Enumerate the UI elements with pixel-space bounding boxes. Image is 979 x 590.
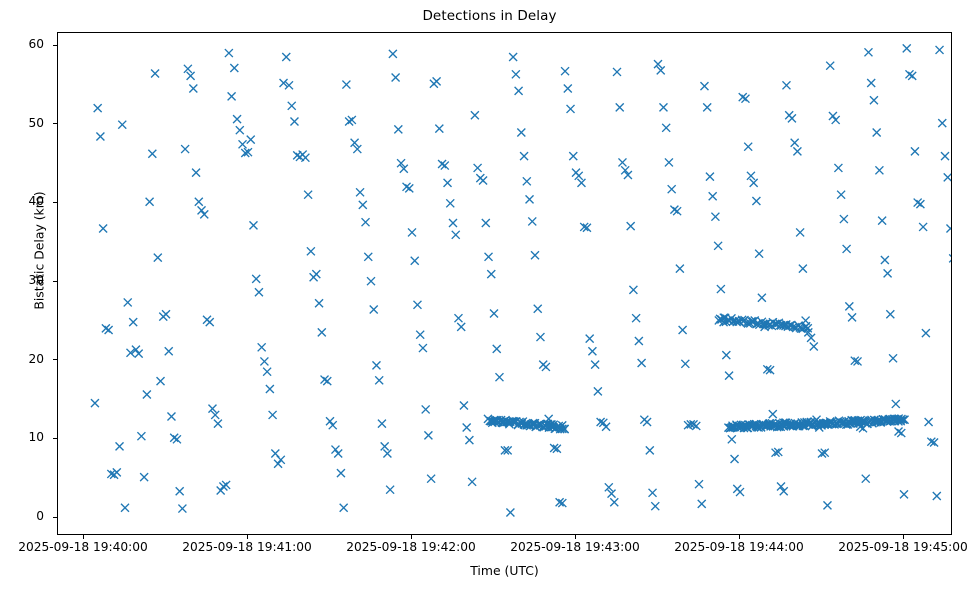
y-tick-label: 60 <box>0 37 44 51</box>
chart-title: Detections in Delay <box>0 8 979 24</box>
y-tick-mark <box>53 281 57 282</box>
x-tick-mark <box>739 535 740 539</box>
y-tick-mark <box>53 517 57 518</box>
x-tick-mark <box>903 535 904 539</box>
x-tick-mark <box>83 535 84 539</box>
y-tick-mark <box>53 202 57 203</box>
y-tick-mark <box>53 123 57 124</box>
scatter-points-layer <box>58 33 952 535</box>
plot-area <box>57 32 952 535</box>
figure-canvas: Detections in Delay 0102030405060 2025-0… <box>0 0 979 590</box>
x-axis-label: Time (UTC) <box>57 563 952 578</box>
x-tick-mark <box>247 535 248 539</box>
y-tick-mark <box>53 45 57 46</box>
y-tick-mark <box>53 438 57 439</box>
y-tick-label: 10 <box>0 430 44 444</box>
y-tick-mark <box>53 359 57 360</box>
x-tick-label: 2025-09-18 19:45:00 <box>803 540 979 554</box>
x-tick-mark <box>411 535 412 539</box>
y-tick-label: 0 <box>0 509 44 523</box>
x-tick-mark <box>575 535 576 539</box>
y-axis-label: Bistatic Delay (km) <box>32 121 47 381</box>
